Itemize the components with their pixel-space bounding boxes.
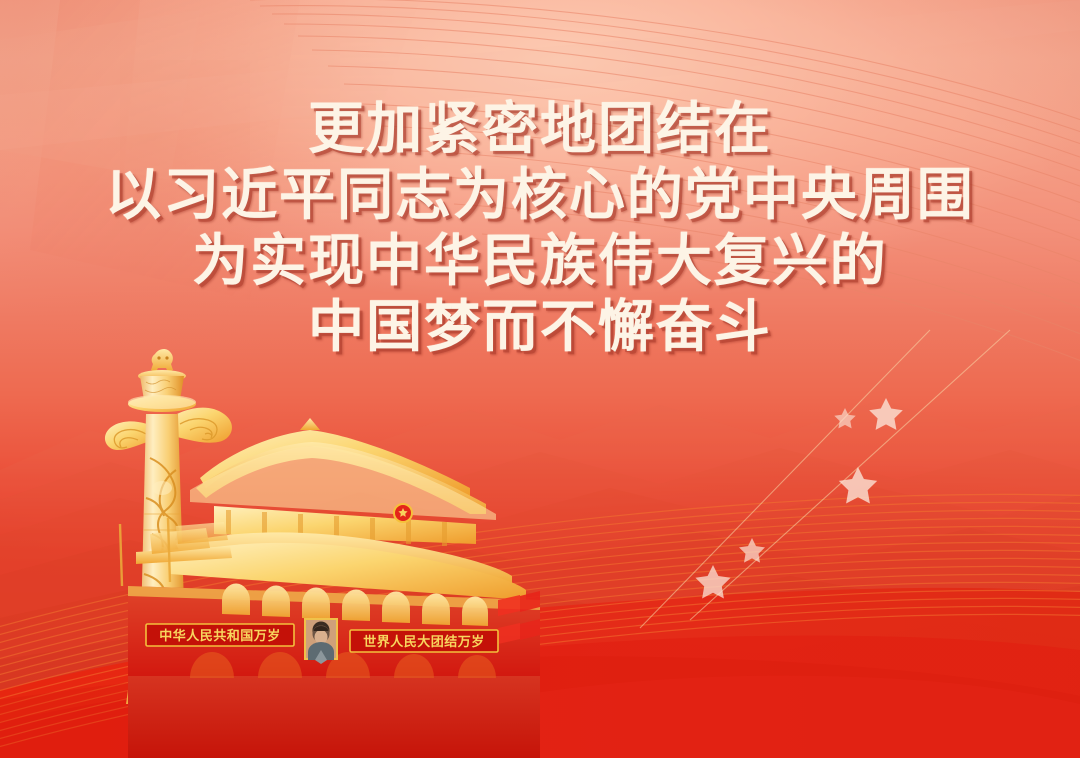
headline-line-2: 以习近平同志为核心的党中央周围 bbox=[0, 162, 1080, 228]
light-ray-1 bbox=[690, 330, 1010, 620]
banner-right-text: 世界人民大团结万岁 bbox=[363, 634, 485, 649]
banner-left-text: 中华人民共和国万岁 bbox=[159, 628, 281, 643]
tiananmen-gate: 中华人民共和国万岁 世界人民大团结万岁 bbox=[120, 418, 540, 758]
star-4 bbox=[739, 538, 765, 563]
star-3 bbox=[839, 467, 877, 504]
star-5 bbox=[695, 565, 730, 598]
headline-line-1: 更加紧密地团结在 bbox=[0, 96, 1080, 162]
headline-block: 更加紧密地团结在 以习近平同志为核心的党中央周围 为实现中华民族伟大复兴的 中国… bbox=[0, 96, 1080, 360]
headline-line-4: 中国梦而不懈奋斗 bbox=[0, 294, 1080, 360]
monument-illustration: 中华人民共和国万岁 世界人民大团结万岁 bbox=[0, 338, 620, 758]
banner-left: 中华人民共和国万岁 bbox=[146, 624, 294, 646]
national-emblem bbox=[394, 504, 412, 522]
gate-base bbox=[128, 676, 540, 758]
mao-portrait bbox=[304, 618, 338, 664]
roof-finial bbox=[300, 418, 320, 430]
banner-right: 世界人民大团结万岁 bbox=[350, 630, 498, 652]
star-1 bbox=[869, 398, 903, 430]
light-ray-2 bbox=[640, 330, 930, 628]
poster-canvas: 中华人民共和国万岁 世界人民大团结万岁 bbox=[0, 0, 1080, 758]
headline-line-3: 为实现中华民族伟大复兴的 bbox=[0, 228, 1080, 294]
